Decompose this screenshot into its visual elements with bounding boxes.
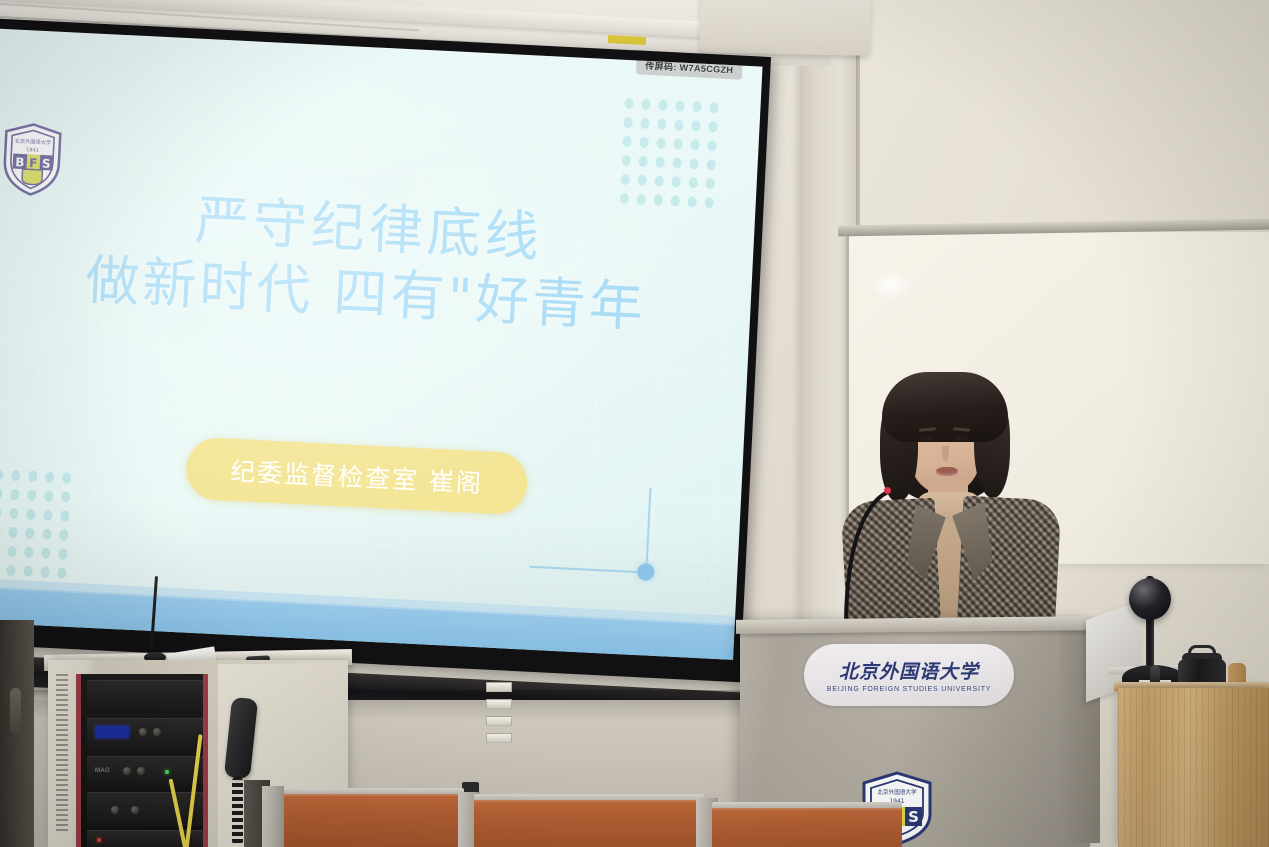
slide-corner-motif bbox=[542, 482, 687, 599]
bench-panel-3 bbox=[712, 808, 902, 847]
rack-lcd-display bbox=[95, 726, 129, 738]
rack-led-red bbox=[97, 838, 101, 842]
svg-text:S: S bbox=[908, 808, 919, 826]
rack-knob-f[interactable] bbox=[131, 806, 139, 814]
rack-switch-2[interactable] bbox=[486, 699, 512, 709]
desk-wood-grain bbox=[1118, 688, 1269, 847]
slide-dot-grid-topright bbox=[620, 98, 719, 209]
motif-horizontal-line bbox=[529, 566, 647, 574]
speaker-person bbox=[826, 372, 1064, 634]
presentation-slide: 北京外国语大学 1941 B F S bbox=[0, 28, 763, 660]
wall-plate bbox=[10, 688, 21, 734]
bench-post-1 bbox=[262, 786, 284, 847]
svg-text:1941: 1941 bbox=[26, 147, 39, 154]
lectern-plaque: 北京外国语大学 BEIJING FOREIGN STUDIES UNIVERSI… bbox=[804, 644, 1014, 706]
slide-dot-grid-bottomleft bbox=[0, 468, 71, 579]
motif-vertical-line bbox=[646, 488, 652, 566]
lectern-plaque-cn: 北京外国语大学 bbox=[839, 657, 979, 684]
bench-panel-1 bbox=[274, 794, 464, 847]
rack-switch-3[interactable] bbox=[486, 716, 512, 726]
rack-unit-1 bbox=[87, 680, 207, 714]
telephone-cord bbox=[232, 776, 243, 846]
rack-knob-d[interactable] bbox=[137, 767, 145, 775]
microphone-tip bbox=[884, 487, 891, 494]
rack-switch-4[interactable] bbox=[486, 733, 512, 743]
rack-switch-1[interactable] bbox=[486, 682, 512, 692]
rack-unit-3-label: MAG bbox=[95, 768, 110, 774]
rack-knob-b[interactable] bbox=[153, 728, 161, 736]
rack-knob-c[interactable] bbox=[123, 767, 131, 775]
motif-dot bbox=[637, 563, 655, 581]
rack-unit-3: MAG bbox=[87, 756, 207, 788]
ball-camera-icon bbox=[1129, 578, 1171, 620]
rack-knob-e[interactable] bbox=[111, 806, 119, 814]
projection-screen-surface: 北京外国语大学 1941 B F S bbox=[0, 28, 763, 660]
whiteboard-glare bbox=[869, 270, 913, 300]
eye-right bbox=[954, 436, 968, 441]
rack-knob-a[interactable] bbox=[139, 728, 147, 736]
side-desk bbox=[1118, 688, 1269, 847]
rack-unit-2 bbox=[87, 718, 207, 752]
svg-text:F: F bbox=[29, 156, 38, 170]
lecture-hall-benches bbox=[262, 786, 902, 847]
projection-screen: 北京外国语大学 1941 B F S bbox=[0, 18, 771, 682]
screen-roller-housing bbox=[699, 0, 870, 56]
svg-text:B: B bbox=[15, 155, 25, 169]
rack-switch-group[interactable] bbox=[486, 682, 512, 758]
lectern-plaque-en: BEIJING FOREIGN STUDIES UNIVERSITY bbox=[827, 686, 992, 693]
rack-open-door[interactable]: MAG bbox=[76, 674, 208, 847]
rack-led-green bbox=[165, 770, 169, 774]
microphone-icon bbox=[826, 372, 946, 634]
lecture-hall-photo: 北京外国语大学 1941 B F S bbox=[0, 0, 1269, 847]
svg-text:S: S bbox=[42, 156, 51, 170]
rack-vent-left bbox=[56, 674, 68, 832]
bench-panel-2 bbox=[474, 800, 704, 847]
